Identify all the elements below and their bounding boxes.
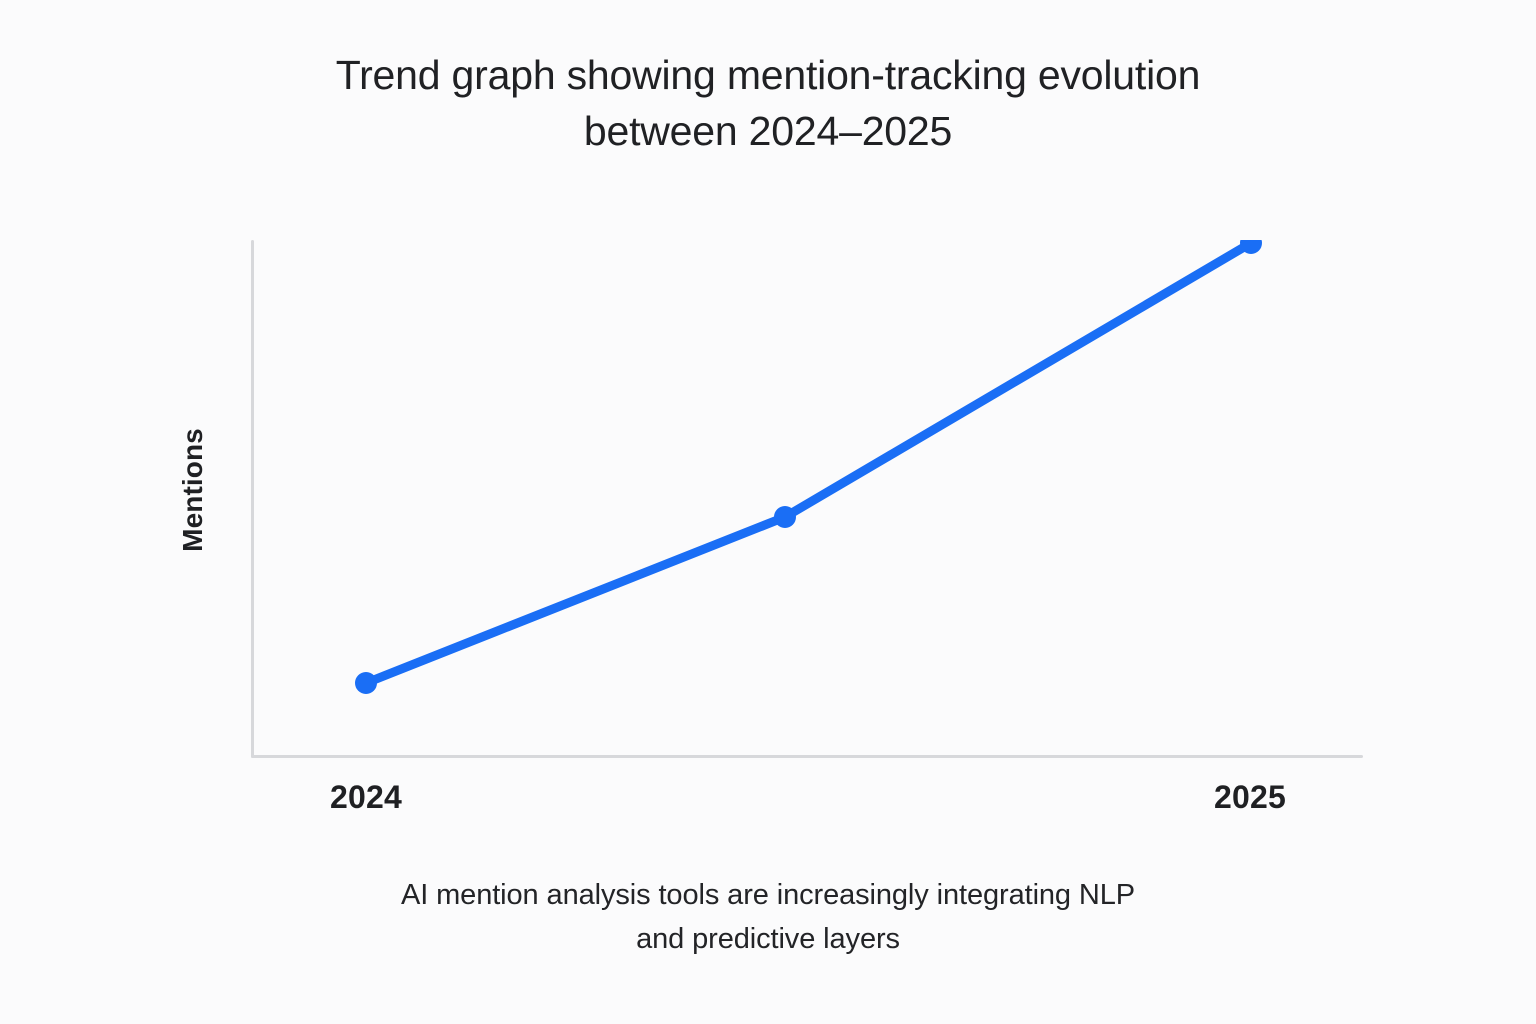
chart-title: Trend graph showing mention-tracking evo… [0, 47, 1536, 159]
data-point-marker[interactable] [355, 672, 377, 694]
y-axis-title: Mentions [177, 428, 209, 552]
series-line-mentions [366, 243, 1251, 683]
chart-figure: Trend graph showing mention-tracking evo… [0, 0, 1536, 1024]
x-tick-label-2025: 2025 [1214, 779, 1286, 816]
data-point-marker[interactable] [774, 506, 796, 528]
plot-area [252, 240, 1362, 757]
chart-caption: AI mention analysis tools are increasing… [0, 873, 1536, 961]
line-series-svg [252, 240, 1362, 757]
x-tick-label-2024: 2024 [330, 779, 402, 816]
